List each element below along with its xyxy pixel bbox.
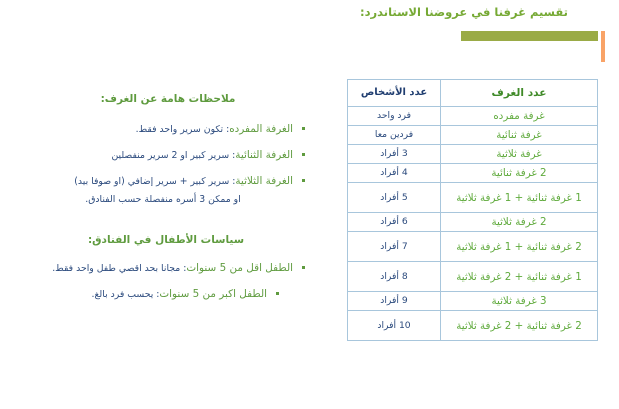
note-desc: : تكون سرير واحد فقط. [136, 124, 230, 135]
list-item: الطفل اكبر من 5 سنوات: يحسب فرد بالغ. [7, 287, 281, 302]
table-row: غرفة ثنائية فردين معا [348, 126, 598, 145]
cell-rooms: 1 غرفة ثنائية + 2 غرفة ثلاثية [441, 262, 598, 292]
note-term: الغرفة المفرده [229, 123, 293, 135]
cell-rooms: غرفة ثنائية [441, 126, 598, 145]
cell-rooms: 3 غرفة ثلاثية [441, 292, 598, 311]
policies-heading: سياسات الأطفال في الفنادق: [7, 233, 307, 247]
table-row: غرفة مفرده فرد واحد [348, 107, 598, 126]
table-row: 1 غرفة ثنائية + 1 غرفة ثلاثية 5 أفراد [348, 183, 598, 213]
note-term: الغرفة الثلاثية [235, 175, 293, 187]
cell-people: فردين معا [348, 126, 441, 145]
cell-rooms: 2 غرفة ثلاثية [441, 213, 598, 232]
children-policy-list: الطفل اقل من 5 سنوات: مجانا بحد اقصي طفل… [7, 261, 307, 302]
note-desc: : سرير كبير + سرير إضافي (او صوفا بيد) [74, 176, 235, 187]
cell-rooms: غرفة مفرده [441, 107, 598, 126]
list-item: الغرفة المفرده: تكون سرير واحد فقط. [7, 122, 307, 137]
list-item: الغرفة الثنائية: سرير كبير او 2 سرير منف… [7, 148, 307, 163]
cell-people: فرد واحد [348, 107, 441, 126]
table-row: 2 غرفة ثنائية 4 أفراد [348, 164, 598, 183]
cell-rooms: 1 غرفة ثنائية + 1 غرفة ثلاثية [441, 183, 598, 213]
table-row: غرفة ثلاثية 3 أفراد [348, 145, 598, 164]
cell-rooms: 2 غرفة ثنائية + 2 غرفة ثلاثية [441, 311, 598, 341]
table-row: 2 غرفة ثلاثية 6 أفراد [348, 213, 598, 232]
header-rooms: عدد الغرف [441, 80, 598, 107]
notes-heading: ملاحظات هامة عن الغرف: [7, 92, 307, 106]
cell-rooms: 2 غرفة ثنائية + 1 غرفة ثلاثية [441, 232, 598, 262]
table-row: 2 غرفة ثنائية + 1 غرفة ثلاثية 7 أفراد [348, 232, 598, 262]
cell-people: 9 أفراد [348, 292, 441, 311]
cell-people: 10 أفراد [348, 311, 441, 341]
list-item: الغرفة الثلاثية: سرير كبير + سرير إضافي … [7, 174, 307, 207]
cell-rooms: 2 غرفة ثنائية [441, 164, 598, 183]
header-people: عدد الأشخاص [348, 80, 441, 107]
cell-people: 8 أفراد [348, 262, 441, 292]
note-desc: : سرير كبير او 2 سرير منفصلين [111, 150, 235, 161]
note-term: الغرفة الثنائية [235, 149, 293, 161]
policy-term: الطفل اكبر من 5 سنوات [159, 288, 267, 300]
table-header-row: عدد الغرف عدد الأشخاص [348, 80, 598, 107]
table-row: 3 غرفة ثلاثية 9 أفراد [348, 292, 598, 311]
table-row: 1 غرفة ثنائية + 2 غرفة ثلاثية 8 أفراد [348, 262, 598, 292]
list-item: الطفل اقل من 5 سنوات: مجانا بحد اقصي طفل… [7, 261, 307, 276]
cell-people: 7 أفراد [348, 232, 441, 262]
policy-term: الطفل اقل من 5 سنوات [186, 262, 293, 274]
page-title: تقسيم غرفنا في عروضنا الاستاندرد: [319, 4, 609, 20]
orange-accent-tab [601, 31, 605, 62]
green-accent-bar [461, 31, 598, 41]
room-allocation-table: عدد الغرف عدد الأشخاص غرفة مفرده فرد واح… [347, 79, 598, 341]
policy-desc: : مجانا بحد اقصي طفل واحد فقط. [52, 263, 186, 274]
table-row: 2 غرفة ثنائية + 2 غرفة ثلاثية 10 أفراد [348, 311, 598, 341]
cell-people: 3 أفراد [348, 145, 441, 164]
cell-rooms: غرفة ثلاثية [441, 145, 598, 164]
cell-people: 6 أفراد [348, 213, 441, 232]
policy-desc: : يحسب فرد بالغ. [92, 289, 160, 300]
cell-people: 4 أفراد [348, 164, 441, 183]
notes-column: ملاحظات هامة عن الغرف: الغرفة المفرده: ت… [7, 92, 307, 313]
note-continuation: او ممكن 3 أسره منفصلة حسب الفنادق. [7, 193, 293, 207]
room-notes-list: الغرفة المفرده: تكون سرير واحد فقط. الغر… [7, 122, 307, 207]
banner-title-wrap: تقسيم غرفنا في عروضنا الاستاندرد: [319, 4, 609, 20]
cell-people: 5 أفراد [348, 183, 441, 213]
